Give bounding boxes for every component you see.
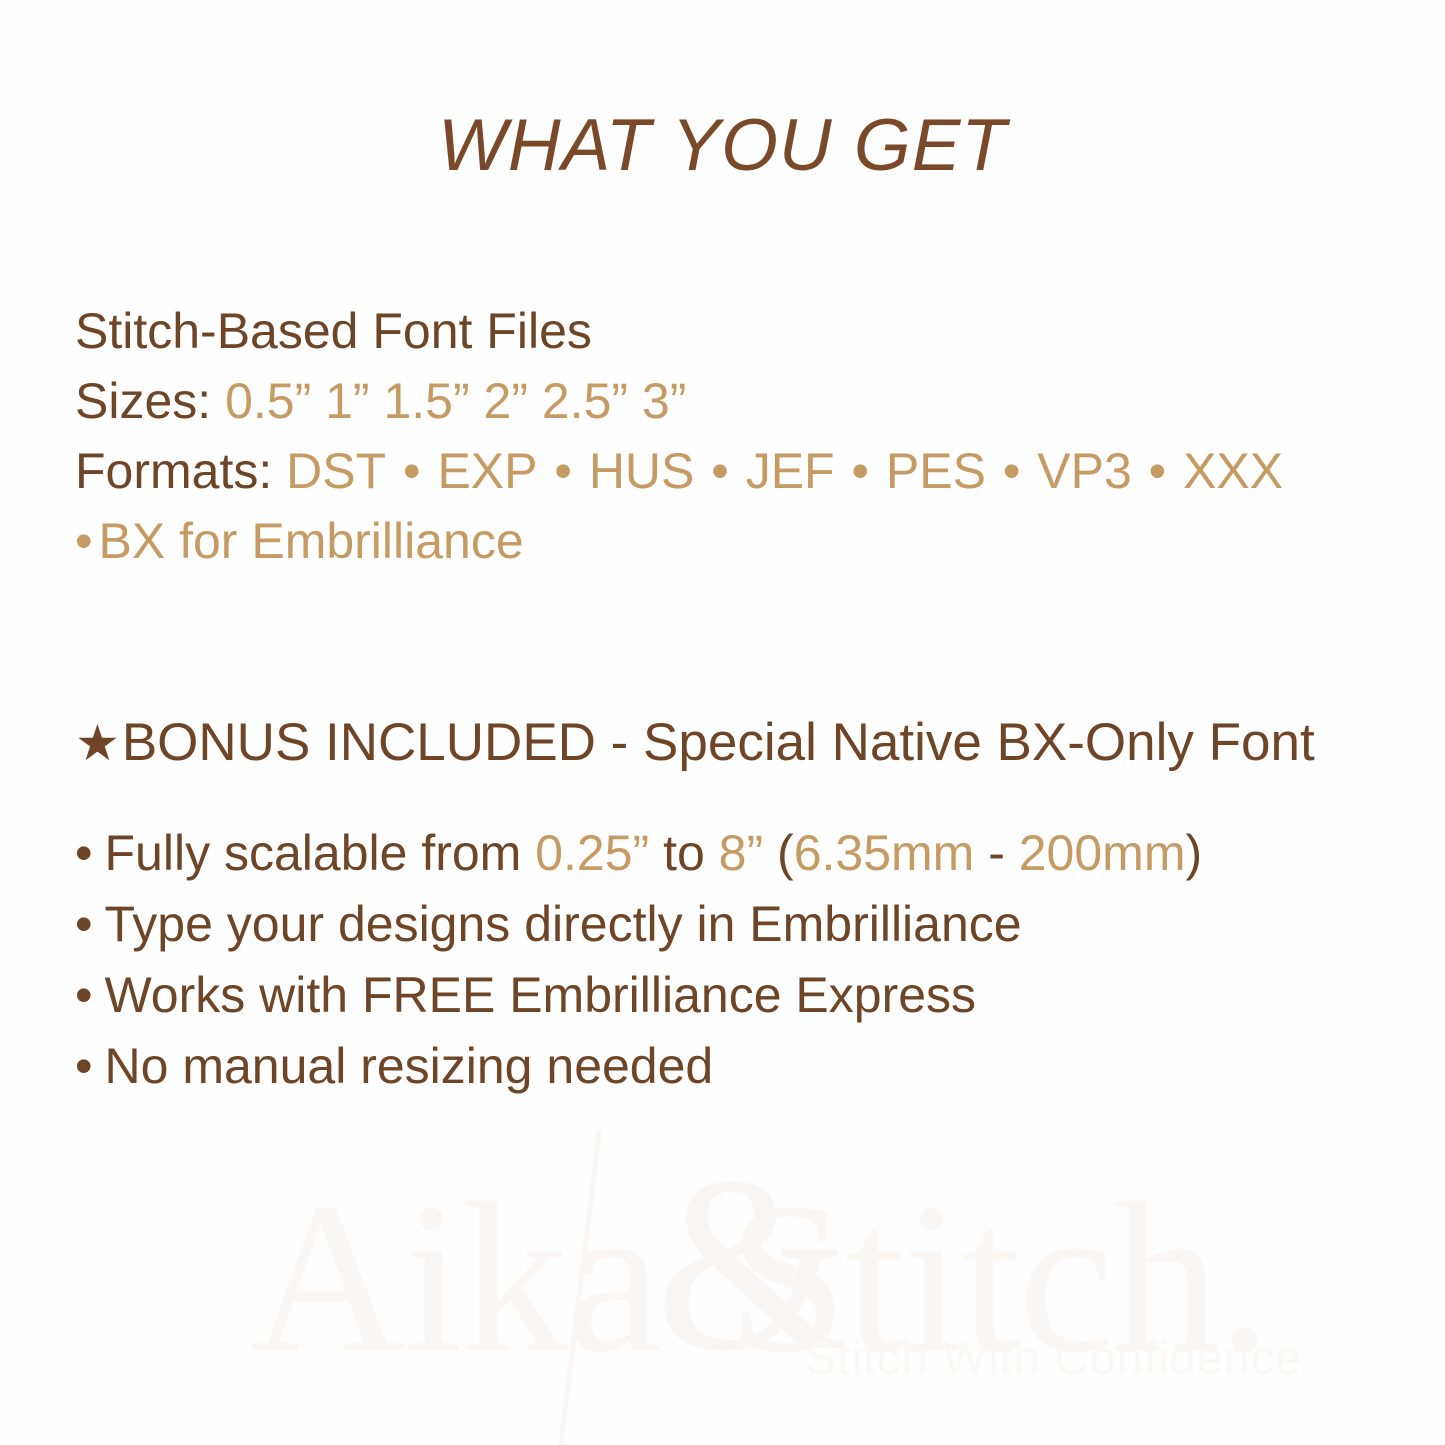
bonus-item-0-run-6: - [974, 825, 1018, 881]
bullet-icon: • [75, 825, 105, 881]
format-pes: PES [886, 443, 986, 499]
what-you-get-page: WHAT YOU GET Stitch-Based Font Files Siz… [0, 0, 1445, 1445]
bonus-item-0-run-3: 8” [719, 825, 763, 881]
bonus-item-1-run-0: Type your designs directly in Embrillian… [105, 896, 1022, 952]
bonus-item-0-run-0: Fully scalable from [105, 825, 536, 881]
bullet-icon: • [75, 513, 99, 569]
separator-dot-icon: • [1132, 443, 1183, 499]
bonus-heading-text: BONUS INCLUDED - Special Native BX-Only … [122, 713, 1315, 772]
bonus-item-0-run-7: 200mm [1019, 825, 1186, 881]
separator-dot-icon: • [986, 443, 1037, 499]
bonus-list-item: •No manual resizing needed [75, 1031, 1415, 1102]
bonus-list-item: •Type your designs directly in Embrillia… [75, 889, 1415, 960]
bullet-icon: • [75, 1038, 105, 1094]
bonus-item-3-run-0: No manual resizing needed [105, 1038, 714, 1094]
specs-section: Stitch-Based Font Files Sizes: 0.5” 1” 1… [75, 296, 1405, 576]
bonus-list-item: •Works with FREE Embrilliance Express [75, 960, 1415, 1031]
spec-sizes-value: 0.5” 1” 1.5” 2” 2.5” 3” [225, 373, 686, 429]
bonus-item-0-run-2: to [649, 825, 718, 881]
bonus-list-item: •Fully scalable from 0.25” to 8” (6.35mm… [75, 818, 1415, 889]
format-jef: JEF [746, 443, 835, 499]
page-title: WHAT YOU GET [0, 104, 1445, 187]
spec-formats-value: DST • EXP • HUS • JEF • PES • VP3 • XXX [286, 443, 1283, 499]
star-icon: ★ [75, 715, 122, 771]
format-exp: EXP [437, 443, 537, 499]
bonus-item-0-run-4: ( [763, 825, 794, 881]
spec-formats-label: Formats: [75, 443, 272, 499]
separator-dot-icon: • [835, 443, 886, 499]
spec-heading: Stitch-Based Font Files [75, 296, 1405, 366]
separator-dot-icon: • [538, 443, 589, 499]
separator-dot-icon: • [694, 443, 745, 499]
separator-dot-icon: • [386, 443, 437, 499]
format-dst: DST [286, 443, 386, 499]
spec-formats-line: Formats: DST • EXP • HUS • JEF • PES • V… [75, 436, 1405, 506]
bonus-heading: ★BONUS INCLUDED - Special Native BX-Only… [75, 712, 1315, 774]
bonus-item-0-run-8: ) [1185, 825, 1202, 881]
bonus-feature-list: •Fully scalable from 0.25” to 8” (6.35mm… [75, 818, 1415, 1102]
format-hus: HUS [589, 443, 695, 499]
spec-sizes-line: Sizes: 0.5” 1” 1.5” 2” 2.5” 3” [75, 366, 1405, 436]
bullet-icon: • [75, 967, 105, 1023]
spec-bx-label: BX for Embrilliance [99, 513, 524, 569]
format-vp3: VP3 [1037, 443, 1132, 499]
bonus-item-2-run-0: Works with FREE Embrilliance Express [105, 967, 977, 1023]
spec-sizes-label: Sizes: [75, 373, 211, 429]
format-xxx: XXX [1183, 443, 1283, 499]
bonus-item-0-run-1: 0.25” [535, 825, 649, 881]
bonus-item-0-run-5: 6.35mm [794, 825, 975, 881]
bullet-icon: • [75, 896, 105, 952]
spec-bx-line: •BX for Embrilliance [75, 506, 1405, 576]
